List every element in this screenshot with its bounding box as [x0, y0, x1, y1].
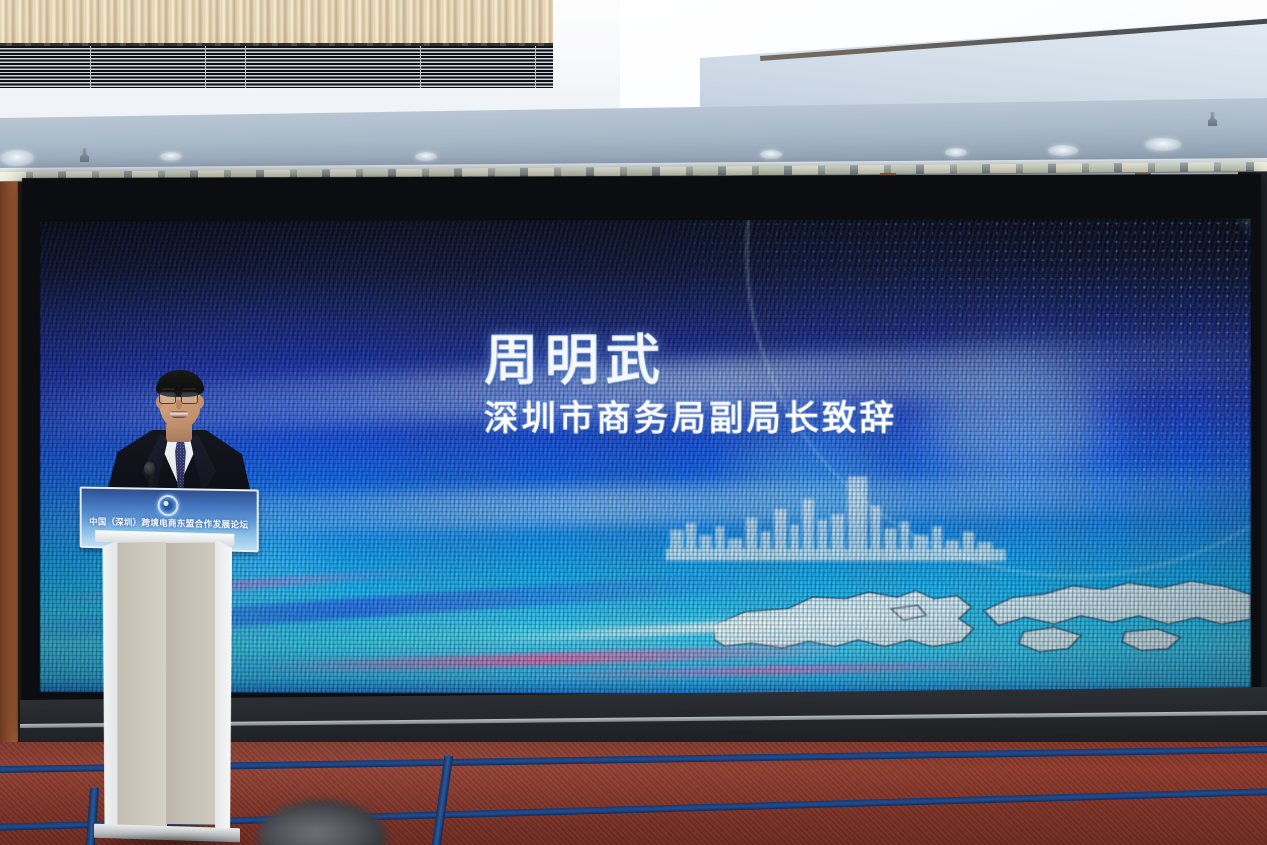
glasses-bridge [173, 396, 180, 397]
carpet-stripe-vertical [432, 756, 454, 845]
conference-hall-photo: 周明武 深圳市商务局副局长致辞 中国（深圳）跨境电 [0, 0, 1267, 845]
glasses-icon [181, 392, 198, 404]
downlight-icon [415, 152, 437, 161]
podium-shadow [88, 836, 253, 845]
speaker-title-text: 深圳市商务局副局长致辞 [484, 402, 897, 436]
mouth [170, 411, 188, 418]
nose [176, 400, 182, 409]
downlight-icon [160, 152, 182, 161]
microphone-icon [144, 462, 155, 475]
slide-text-block: 周明武 深圳市商务局副局长致辞 [484, 334, 897, 437]
downlight-icon [945, 148, 967, 157]
downlight-icon [760, 150, 782, 159]
glow-bloom [920, 362, 1104, 483]
glasses-icon [159, 392, 176, 404]
podium-left-edge [103, 541, 119, 830]
forum-emblem-icon [158, 495, 179, 516]
downlight-icon [0, 150, 34, 166]
podium: 中国（深圳）跨境电商东盟合作发展论坛 [78, 488, 258, 550]
speaker-name-text: 周明武 [484, 334, 897, 389]
podium-panel-left [117, 542, 167, 826]
downlight-icon [1145, 138, 1181, 151]
podium-body [103, 539, 233, 831]
linear-ceiling-grille [0, 46, 553, 88]
downlight-icon [1048, 145, 1078, 156]
ear [197, 396, 204, 408]
crystal-chandelier-bar [0, 0, 553, 47]
podium-sign-text: 中国（深圳）跨境电商东盟合作发展论坛 [82, 515, 257, 531]
city-skyline-silhouette [665, 466, 1005, 561]
podium-right-edge [215, 539, 232, 831]
podium-panel-right [166, 542, 216, 825]
